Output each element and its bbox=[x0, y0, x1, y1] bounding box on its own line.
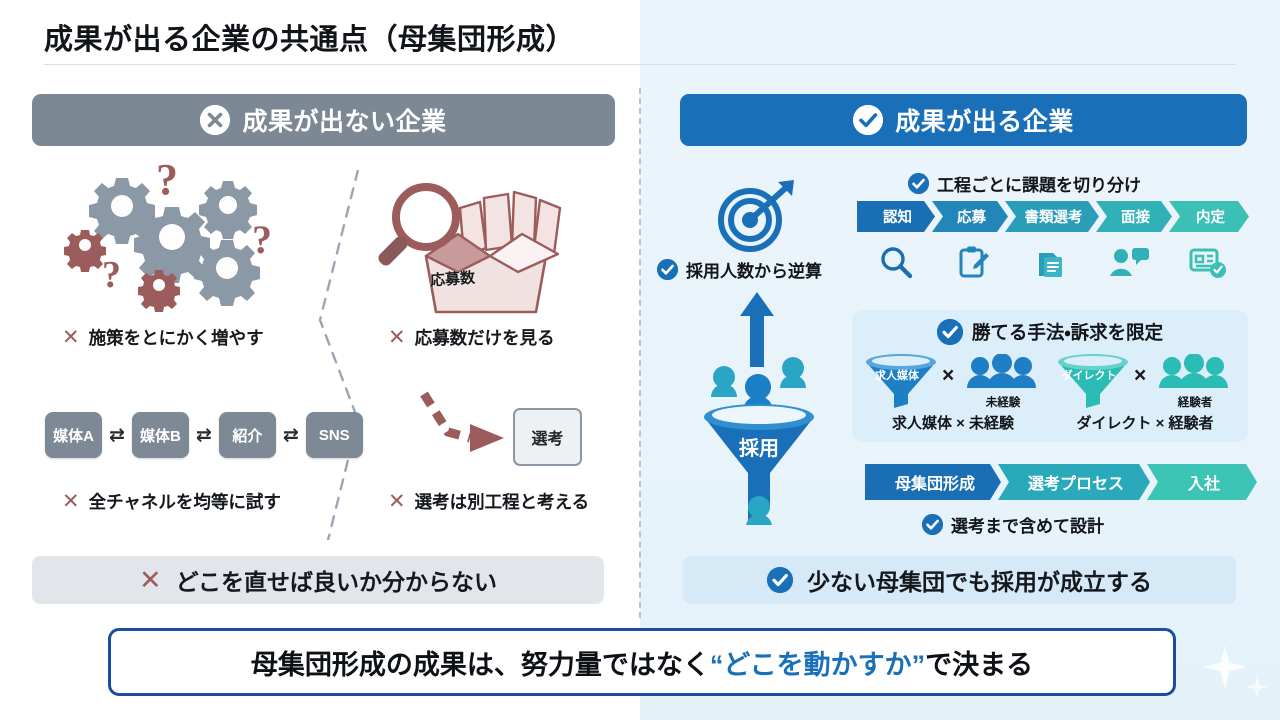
combo-1-people-label: 未経験 bbox=[962, 394, 1044, 410]
selection-box: 選考 bbox=[513, 408, 582, 466]
caption-3-text: 全チャネルを均等に試す bbox=[89, 489, 281, 514]
search-icon bbox=[857, 240, 935, 284]
exchange-arrow-icon-3: ⇄ bbox=[283, 426, 299, 445]
people-group-icon-2 bbox=[1158, 354, 1230, 396]
x-mark-icon-3: ✕ bbox=[62, 491, 80, 512]
target-icon bbox=[712, 180, 798, 254]
caption-1-text: 施策をとにかく増やす bbox=[89, 325, 264, 350]
caption-4: ✕ 選考は別工程と考える bbox=[388, 489, 589, 514]
check-badge-icon-1 bbox=[657, 259, 678, 280]
combo-1-caption: 求人媒体 × 未経験 bbox=[858, 412, 1048, 433]
limited-method-title-text: 勝てる手法・訴求を限定 bbox=[972, 319, 1163, 345]
caption-1: ✕ 施策をとにかく増やす bbox=[62, 325, 264, 350]
combo-1-funnel-label: 求人媒体 bbox=[858, 367, 936, 383]
caption-3: ✕ 全チャネルを均等に試す bbox=[62, 489, 281, 514]
check-circle-icon bbox=[853, 105, 883, 135]
limited-method-title: 勝てる手法・訴求を限定 bbox=[852, 319, 1248, 345]
banner-text-after: で決まる bbox=[925, 643, 1033, 682]
flow-step-row: 母集団形成 選考プロセス 入社 bbox=[865, 464, 1254, 500]
caption-2: ✕ 応募数だけを見る bbox=[388, 325, 555, 350]
x-mark-icon-1: ✕ bbox=[62, 327, 80, 348]
combo-2-times-icon: × bbox=[1134, 364, 1146, 388]
interview-icon bbox=[1091, 240, 1169, 284]
backcalc-label: 採用人数から逆算 bbox=[657, 257, 822, 282]
box-label: 応募数 bbox=[429, 266, 475, 290]
flow-step-3[interactable]: 入社 bbox=[1147, 464, 1257, 500]
caption-2-text: 応募数だけを見る bbox=[415, 325, 555, 350]
combo-2-funnel-label: ダイレクト bbox=[1050, 367, 1128, 383]
right-summary-text: 少ない母集団でも採用が成立する bbox=[807, 563, 1152, 597]
x-mark-icon-4: ✕ bbox=[388, 491, 406, 512]
exchange-arrow-icon-1: ⇄ bbox=[109, 426, 125, 445]
gears-question-marks-icon: ? ? ? bbox=[58, 158, 328, 313]
channel-chip-3[interactable]: 紹介 bbox=[219, 412, 276, 458]
slide-root: 成果が出る企業の共通点（母集団形成） 成果が出ない企業 bbox=[0, 0, 1280, 720]
process-step-icon-row bbox=[857, 240, 1247, 284]
check-badge-icon-2 bbox=[908, 173, 929, 194]
process-step-4[interactable]: 面接 bbox=[1096, 201, 1172, 232]
channel-chip-1[interactable]: 媒体A bbox=[45, 412, 102, 458]
conclusion-banner: 母集団形成の成果は、努力量ではなく “どこを動かすか” で決まる bbox=[108, 628, 1176, 696]
combo-2: ダイレクト × 経験者 ダイレクト × 経験者 bbox=[1050, 350, 1240, 438]
banner-highlight: “どこを動かすか” bbox=[710, 643, 925, 682]
left-summary-bar: ✕ どこを直せば良いか分からない bbox=[32, 556, 604, 604]
process-step-5[interactable]: 内定 bbox=[1169, 201, 1249, 232]
combo-2-caption: ダイレクト × 経験者 bbox=[1050, 412, 1240, 433]
right-panel-header: 成果が出る企業 bbox=[680, 94, 1247, 146]
right-panel-header-label: 成果が出る企業 bbox=[895, 102, 1074, 138]
process-step-3[interactable]: 書類選考 bbox=[1005, 201, 1099, 232]
channel-chip-row: 媒体A ⇄ 媒体B ⇄ 紹介 ⇄ SNS bbox=[45, 412, 363, 458]
svg-text:採用: 採用 bbox=[739, 437, 779, 460]
design-label-text: 選考まで含めて設計 bbox=[951, 512, 1104, 537]
offer-card-icon bbox=[1169, 240, 1247, 284]
combo-2-people-label: 経験者 bbox=[1154, 394, 1236, 410]
check-badge-icon-summary bbox=[767, 567, 793, 593]
x-mark-icon-2: ✕ bbox=[388, 327, 406, 348]
left-panel: ? ? ? bbox=[0, 0, 640, 720]
question-mark-icon-3: ? bbox=[102, 253, 121, 297]
flow-step-1[interactable]: 母集団形成 bbox=[865, 464, 1001, 500]
zigzag-separator bbox=[300, 170, 410, 540]
process-label-text: 工程ごとに課題を切り分け bbox=[937, 171, 1141, 196]
question-mark-icon-2: ? bbox=[252, 216, 272, 263]
dashed-elbow-arrow-icon bbox=[418, 392, 528, 464]
check-badge-icon-3 bbox=[937, 319, 963, 345]
design-label: 選考まで含めて設計 bbox=[922, 512, 1104, 537]
funnel-icon: 採用 bbox=[700, 355, 818, 525]
document-icon bbox=[1013, 240, 1091, 284]
process-label: 工程ごとに課題を切り分け bbox=[908, 171, 1141, 196]
clipboard-pen-icon bbox=[935, 240, 1013, 284]
check-badge-icon-4 bbox=[922, 514, 943, 535]
x-mark-icon-summary: ✕ bbox=[139, 567, 162, 594]
flow-step-2[interactable]: 選考プロセス bbox=[998, 464, 1150, 500]
people-group-icon-1 bbox=[966, 354, 1038, 396]
exchange-arrow-icon-2: ⇄ bbox=[196, 426, 212, 445]
combo-1: 求人媒体 × 未経験 求人媒体 × 未経験 bbox=[858, 350, 1048, 438]
channel-chip-4[interactable]: SNS bbox=[306, 412, 363, 458]
process-step-2[interactable]: 応募 bbox=[932, 201, 1008, 232]
combo-1-times-icon: × bbox=[942, 364, 954, 388]
question-mark-icon-1: ? bbox=[156, 154, 178, 205]
process-step-row: 認知 応募 書類選考 面接 内定 bbox=[857, 201, 1246, 232]
limited-method-card: 勝てる手法・訴求を限定 求人媒体 × bbox=[852, 310, 1248, 442]
backcalc-label-text: 採用人数から逆算 bbox=[686, 257, 822, 282]
banner-text-before: 母集団形成の成果は、努力量ではなく bbox=[251, 643, 710, 682]
left-summary-text: どこを直せば良いか分からない bbox=[176, 563, 497, 597]
right-summary-bar: 少ない母集団でも採用が成立する bbox=[683, 556, 1236, 604]
channel-chip-2[interactable]: 媒体B bbox=[132, 412, 189, 458]
caption-4-text: 選考は別工程と考える bbox=[415, 489, 589, 514]
process-step-1[interactable]: 認知 bbox=[857, 201, 935, 232]
